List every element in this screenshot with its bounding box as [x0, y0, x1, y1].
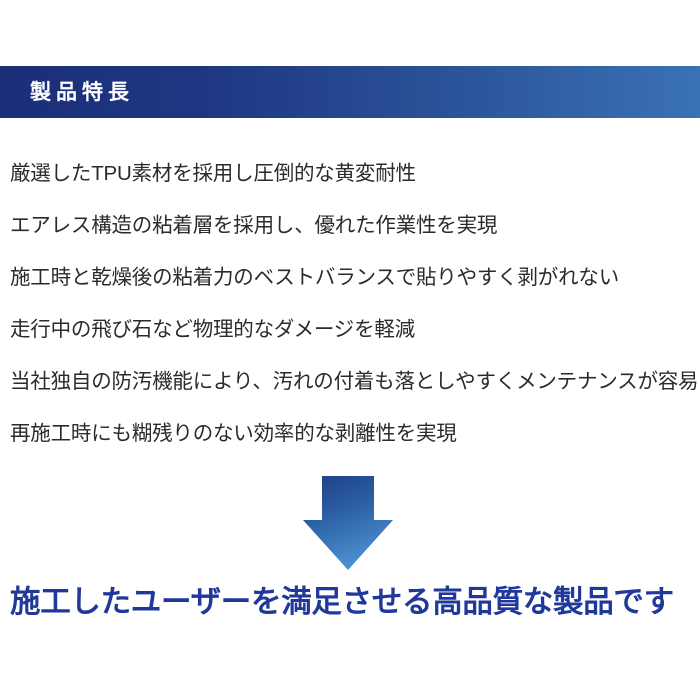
- section-header-banner: 製品特長: [0, 66, 700, 118]
- feature-text: 施工時と乾燥後の粘着力のベストバランスで貼りやすく剥がれない: [10, 268, 619, 289]
- arrow-down-icon: [303, 476, 393, 570]
- product-features-page: 製品特長 厳選したTPU素材を採用し圧倒的な黄変耐性 エアレス構造の粘着層を採用…: [0, 0, 700, 700]
- list-item: 再施工時にも糊残りのない効率的な剥離性を実現: [10, 408, 700, 460]
- feature-text: 当社独自の防汚機能により、汚れの付着も落としやすくメンテナンスが容易: [10, 372, 698, 393]
- feature-text: エアレス構造の粘着層を採用し、優れた作業性を実現: [10, 216, 497, 237]
- feature-text: 再施工時にも糊残りのない効率的な剥離性を実現: [10, 424, 457, 445]
- feature-text: 厳選したTPU素材を採用し圧倒的な黄変耐性: [10, 164, 416, 185]
- closing-headline: 施工したユーザーを満足させる高品質な製品です: [10, 583, 700, 621]
- list-item: 厳選したTPU素材を採用し圧倒的な黄変耐性: [10, 148, 700, 200]
- list-item: 施工時と乾燥後の粘着力のベストバランスで貼りやすく剥がれない: [10, 252, 700, 304]
- list-item: エアレス構造の粘着層を採用し、優れた作業性を実現: [10, 200, 700, 252]
- list-item: 当社独自の防汚機能により、汚れの付着も落としやすくメンテナンスが容易: [10, 356, 700, 408]
- page-title: 製品特長: [30, 82, 134, 103]
- list-item: 走行中の飛び石など物理的なダメージを軽減: [10, 304, 700, 356]
- feature-text: 走行中の飛び石など物理的なダメージを軽減: [10, 320, 415, 341]
- feature-list: 厳選したTPU素材を採用し圧倒的な黄変耐性 エアレス構造の粘着層を採用し、優れた…: [10, 148, 700, 460]
